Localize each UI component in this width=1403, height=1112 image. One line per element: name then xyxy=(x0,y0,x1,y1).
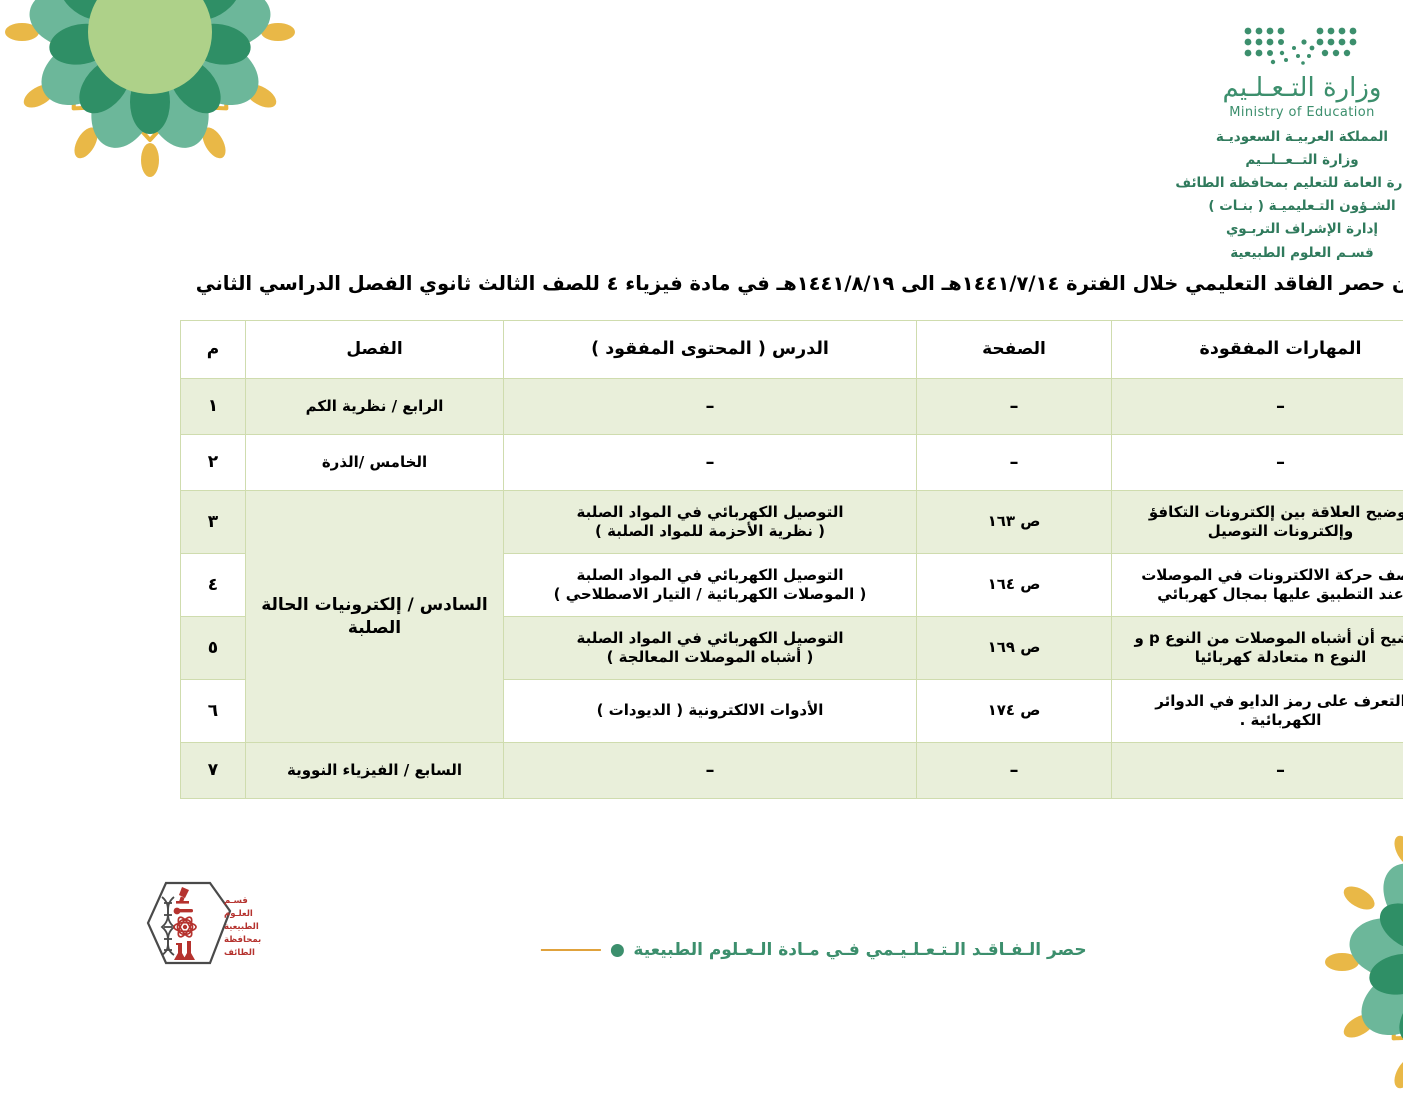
bullet-dot-icon xyxy=(498,944,511,957)
ministry-line-5: إدارة الإشراف التربـوي xyxy=(1025,218,1355,241)
ministry-line-6: قسـم العلوم الطبيعية xyxy=(1025,242,1355,265)
cell-chapter: السابع / الفيزياء النووية xyxy=(134,743,392,799)
page-footer: حصر الـفـاقـد الـتـعـلـيـمي فـي مـادة ال… xyxy=(0,924,1403,964)
ministry-wordmark-en: Ministry of Education xyxy=(1025,105,1355,120)
cell-lesson: – xyxy=(392,435,805,491)
skills-line-2: الكهربائية . xyxy=(1006,711,1331,731)
header-num: م xyxy=(69,321,134,379)
page-title: بيان حصر الفاقد التعليمي خلال الفترة ١٤٤… xyxy=(0,272,1403,295)
cell-page: – xyxy=(805,435,1000,491)
cell-lesson: التوصيل الكهربائي في المواد الصلبة ( نظر… xyxy=(392,491,805,554)
table-row: توضيح العلاقة بين إلكترونات التكافؤ وإلك… xyxy=(69,491,1338,554)
cell-num: ٤ xyxy=(69,554,134,617)
cell-page: ص ١٦٩ xyxy=(805,617,1000,680)
skills-line-1: توضيح أن أشباه الموصلات من النوع p و xyxy=(1006,629,1331,649)
cell-skills: وصف حركة الالكترونات في الموصلات عند الت… xyxy=(1000,554,1338,617)
cell-num: ٥ xyxy=(69,617,134,680)
ministry-header: وزارة التـعـلـيم Ministry of Education ا… xyxy=(1025,26,1355,265)
lesson-line-1: التوصيل الكهربائي في المواد الصلبة xyxy=(398,629,798,649)
cell-skills: – xyxy=(1000,379,1338,435)
skills-line-2: وإلكترونات التوصيل xyxy=(1006,522,1331,542)
learning-loss-table: المهارات المفقودة الصفحة الدرس ( المحتوى… xyxy=(68,320,1338,799)
cell-page: – xyxy=(805,743,1000,799)
lesson-line-2: ( نظرية الأحزمة للمواد الصلبة ) xyxy=(398,522,798,542)
cell-num: ٣ xyxy=(69,491,134,554)
cell-page: ص ١٦٤ xyxy=(805,554,1000,617)
ministry-line-3: الإدارة العامة للتعليم بمحافظة الطائف xyxy=(1025,172,1355,195)
footer-title: حصر الـفـاقـد الـتـعـلـيـمي فـي مـادة ال… xyxy=(521,940,974,960)
skills-line-2: النوع n متعادلة كهربائيا xyxy=(1006,648,1331,668)
cell-num: ٦ xyxy=(69,680,134,743)
cell-chapter: الرابع / نظرية الكم xyxy=(134,379,392,435)
decorative-mandala-top-left xyxy=(0,0,188,182)
cell-lesson: – xyxy=(392,743,805,799)
cell-page: ص ١٧٤ xyxy=(805,680,1000,743)
cell-lesson: – xyxy=(392,379,805,435)
table-header-row: المهارات المفقودة الصفحة الدرس ( المحتوى… xyxy=(69,321,1338,379)
ministry-line-2: وزارة التــعــلــيم xyxy=(1025,149,1355,172)
header-chapter: الفصل xyxy=(134,321,392,379)
skills-line-2: عند التطبيق عليها بمجال كهربائي xyxy=(1006,585,1331,605)
saudi-moe-dots-logo xyxy=(1130,26,1250,68)
ministry-line-1: المملكة العربيـة السعوديـة xyxy=(1025,126,1355,149)
dept-logo-line-2: العلـوم xyxy=(112,909,141,919)
cell-lesson: التوصيل الكهربائي في المواد الصلبة ( أشب… xyxy=(392,617,805,680)
cell-page: ص ١٦٣ xyxy=(805,491,1000,554)
lesson-line-2: ( أشباه الموصلات المعالجة ) xyxy=(398,648,798,668)
header-page: الصفحة xyxy=(805,321,1000,379)
cell-skills: – xyxy=(1000,435,1338,491)
header-skills: المهارات المفقودة xyxy=(1000,321,1338,379)
cell-chapter-merged: السادس / إلكترونيات الحالة الصلبة xyxy=(134,491,392,743)
table-row: – – – الخامس /الذرة ٢ xyxy=(69,435,1338,491)
cell-page: – xyxy=(805,379,1000,435)
lesson-line-1: التوصيل الكهربائي في المواد الصلبة xyxy=(398,566,798,586)
cell-num: ١ xyxy=(69,379,134,435)
cell-num: ٧ xyxy=(69,743,134,799)
cell-skills: – xyxy=(1000,743,1338,799)
cell-num: ٢ xyxy=(69,435,134,491)
lesson-line-2: ( الموصلات الكهربائية / التيار الاصطلاحي… xyxy=(398,585,798,605)
skills-line-1: التعرف على رمز الدايو في الدوائر xyxy=(1006,692,1331,712)
skills-line-1: توضيح العلاقة بين إلكترونات التكافؤ xyxy=(1006,503,1331,523)
learning-loss-table-container: المهارات المفقودة الصفحة الدرس ( المحتوى… xyxy=(68,320,1338,799)
cell-chapter: الخامس /الذرة xyxy=(134,435,392,491)
horizontal-rule-icon xyxy=(428,949,488,951)
cell-skills: التعرف على رمز الدايو في الدوائر الكهربا… xyxy=(1000,680,1338,743)
ministry-line-4: الشـؤون التـعليميـة ( بنـات ) xyxy=(1025,195,1355,218)
ministry-wordmark-ar: وزارة التـعـلـيم xyxy=(1025,74,1355,103)
skills-line-1: وصف حركة الالكترونات في الموصلات xyxy=(1006,566,1331,586)
cell-lesson: الأدوات الالكترونية ( الديودات ) xyxy=(392,680,805,743)
table-row: – – – الرابع / نظرية الكم ١ xyxy=(69,379,1338,435)
lesson-line-1: التوصيل الكهربائي في المواد الصلبة xyxy=(398,503,798,523)
header-lesson: الدرس ( المحتوى المفقود ) xyxy=(392,321,805,379)
cell-skills: توضيح العلاقة بين إلكترونات التكافؤ وإلك… xyxy=(1000,491,1338,554)
cell-skills: توضيح أن أشباه الموصلات من النوع p و الن… xyxy=(1000,617,1338,680)
dept-logo-line-1: قسـم xyxy=(112,896,136,906)
lesson-line-1: الأدوات الالكترونية ( الديودات ) xyxy=(398,701,798,721)
cell-lesson: التوصيل الكهربائي في المواد الصلبة ( الم… xyxy=(392,554,805,617)
table-row: – – – السابع / الفيزياء النووية ٧ xyxy=(69,743,1338,799)
